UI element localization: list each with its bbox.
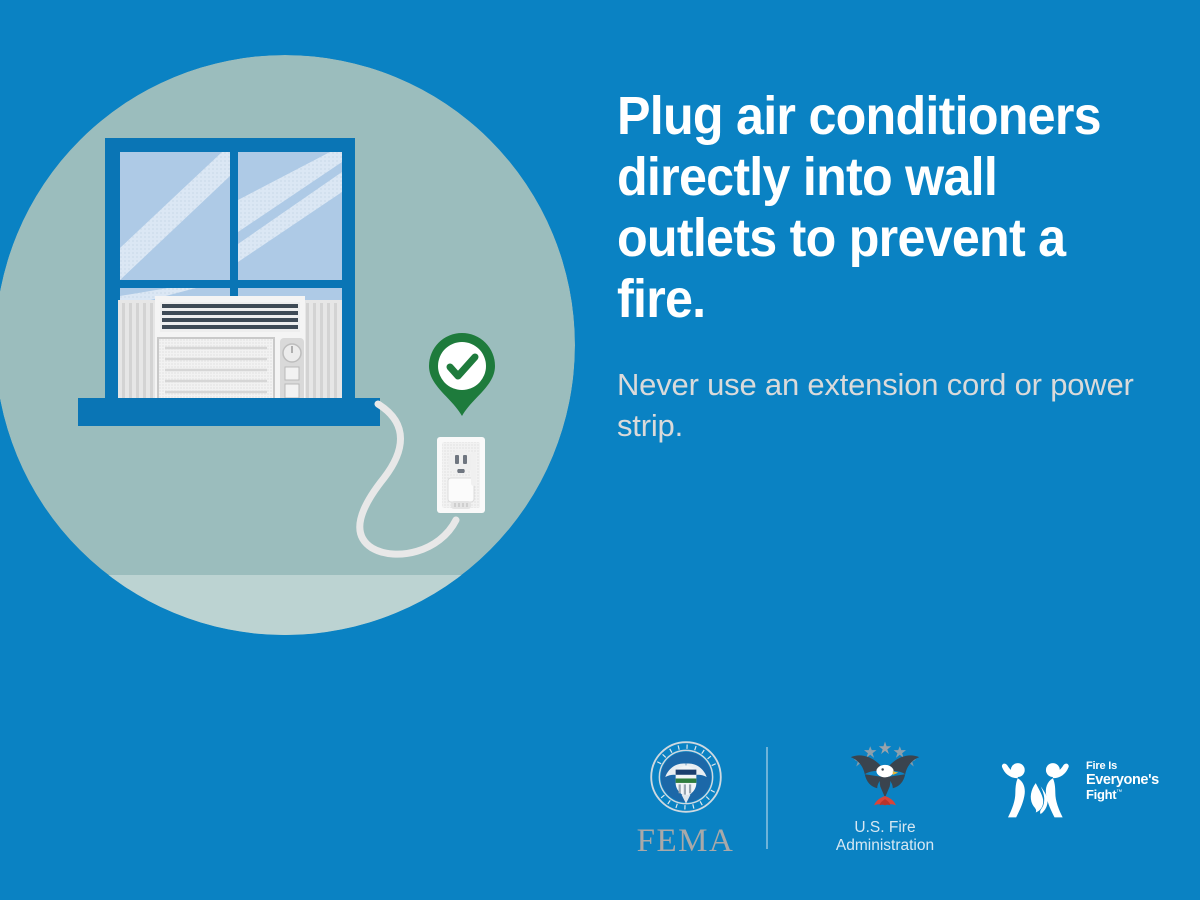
footer-logos: FEMA (600, 735, 1180, 865)
trademark-symbol: ™ (1116, 790, 1122, 796)
message-column: Plug air conditioners directly into wall… (617, 86, 1177, 447)
subheadline: Never use an extension cord or power str… (617, 364, 1177, 446)
usfa-wordmark: U.S. Fire Administration (805, 819, 965, 856)
room-circle (0, 55, 620, 895)
feef-line-3-text: Fight (1086, 787, 1116, 802)
logo-divider (766, 747, 768, 849)
floor-area (0, 575, 620, 895)
window-sill (78, 398, 380, 426)
headline: Plug air conditioners directly into wall… (617, 86, 1138, 330)
fire-is-everyones-fight-logo: Fire Is Everyone's Fight™ (998, 757, 1173, 824)
feef-figures-flame-icon (998, 757, 1080, 819)
outlet-socket-upper (448, 450, 474, 474)
wall-outlet (437, 437, 485, 513)
fema-logo: FEMA (618, 740, 753, 858)
feef-wordmark: Fire Is Everyone's Fight™ (1086, 761, 1159, 802)
air-conditioner-illustration (0, 0, 620, 900)
dhs-seal-icon (649, 740, 723, 814)
usfa-eagle-icon (846, 740, 924, 810)
feef-line-2: Everyone's (1086, 773, 1159, 789)
ac-button-2 (285, 384, 299, 398)
usfa-logo: U.S. Fire Administration (805, 740, 965, 856)
illustration-panel (0, 0, 620, 900)
feef-line-1: Fire Is (1086, 761, 1159, 773)
ac-button-1 (285, 367, 299, 380)
window-air-conditioner (118, 296, 342, 406)
fema-wordmark: FEMA (618, 825, 753, 858)
feef-line-3: Fight™ (1086, 788, 1159, 802)
